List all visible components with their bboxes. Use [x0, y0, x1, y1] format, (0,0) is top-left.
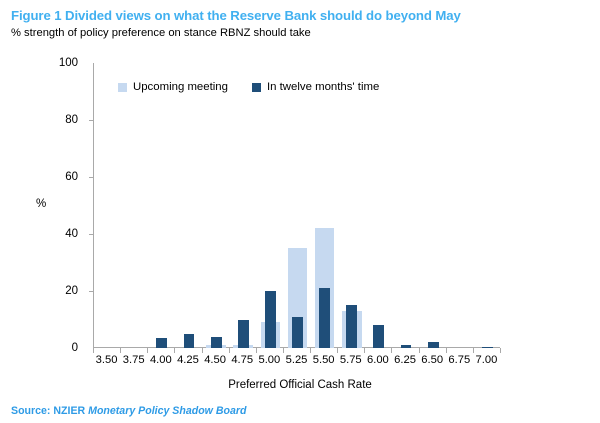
- x-tick-mark: [174, 348, 175, 353]
- x-tick-mark: [500, 348, 501, 353]
- x-tick-mark: [120, 348, 121, 353]
- x-tick-label: 5.50: [313, 354, 335, 366]
- bar-category: [175, 63, 202, 348]
- bar-category: [148, 63, 175, 348]
- x-tick-mark: [391, 348, 392, 353]
- bar-twelve-months: [319, 288, 330, 348]
- x-tick-label: 4.00: [150, 354, 172, 366]
- x-tick-label: 5.75: [340, 354, 362, 366]
- page-title: Figure 1 Divided views on what the Reser…: [11, 8, 461, 23]
- bar-twelve-months: [265, 291, 276, 348]
- bar-category: [230, 63, 257, 348]
- x-tick-mark: [473, 348, 474, 353]
- x-tick-label: 4.75: [231, 354, 253, 366]
- source-publication: Monetary Policy Shadow Board: [88, 405, 246, 417]
- y-tick-mark: [89, 177, 94, 178]
- y-tick-label: 100: [59, 57, 78, 69]
- bar-twelve-months: [292, 317, 303, 348]
- legend-entry: Upcoming meeting: [118, 81, 228, 93]
- x-tick-label: 7.00: [476, 354, 498, 366]
- legend-label: Upcoming meeting: [133, 81, 228, 93]
- bar-category: [338, 63, 365, 348]
- bar-category: [311, 63, 338, 348]
- x-tick-label: 6.75: [448, 354, 470, 366]
- x-tick-label: 3.75: [123, 354, 145, 366]
- x-tick-mark: [93, 348, 94, 353]
- bar-twelve-months: [184, 334, 195, 348]
- y-tick-label: 0: [72, 342, 78, 354]
- bar-category: [365, 63, 392, 348]
- bar-twelve-months: [211, 337, 222, 348]
- bar-category: [203, 63, 230, 348]
- bar-twelve-months: [428, 342, 439, 348]
- legend-label: In twelve months' time: [267, 81, 379, 93]
- x-tick-mark: [256, 348, 257, 353]
- bar-category: [284, 63, 311, 348]
- x-tick-label: 3.50: [96, 354, 118, 366]
- bar-twelve-months: [373, 325, 384, 348]
- x-tick-mark: [419, 348, 420, 353]
- y-tick-label: 20: [65, 285, 78, 297]
- bar-twelve-months: [156, 338, 167, 348]
- y-axis-title: %: [36, 198, 46, 210]
- legend-swatch-icon: [252, 83, 261, 92]
- x-tick-label: 4.50: [204, 354, 226, 366]
- x-tick-mark: [310, 348, 311, 353]
- bar-twelve-months: [346, 305, 357, 348]
- x-tick-mark: [283, 348, 284, 353]
- x-tick-mark: [202, 348, 203, 353]
- bar-twelve-months: [482, 347, 493, 348]
- bar-twelve-months: [401, 345, 412, 348]
- plot-area: [93, 63, 500, 348]
- y-tick-label: 40: [65, 228, 78, 240]
- y-tick-mark: [89, 234, 94, 235]
- x-tick-label: 5.25: [286, 354, 308, 366]
- bar-category: [420, 63, 447, 348]
- x-tick-mark: [337, 348, 338, 353]
- x-tick-label: 5.00: [258, 354, 280, 366]
- x-tick-mark: [446, 348, 447, 353]
- legend-entry: In twelve months' time: [252, 81, 379, 93]
- y-tick-label: 80: [65, 114, 78, 126]
- bar-category: [474, 63, 501, 348]
- y-tick-mark: [89, 120, 94, 121]
- figure-container: Figure 1 Divided views on what the Reser…: [0, 0, 600, 423]
- y-tick-label: 60: [65, 171, 78, 183]
- x-tick-mark: [364, 348, 365, 353]
- bar-category: [447, 63, 474, 348]
- legend-swatch-icon: [118, 83, 127, 92]
- bar-group: [94, 63, 501, 348]
- x-axis-tick-labels: 3.503.754.004.254.504.755.005.255.505.75…: [93, 354, 500, 372]
- chart-subtitle: % strength of policy preference on stanc…: [11, 27, 311, 39]
- x-tick-label: 4.25: [177, 354, 199, 366]
- x-tick-label: 6.50: [421, 354, 443, 366]
- bar-twelve-months: [238, 320, 249, 349]
- source-note: Source: NZIER Monetary Policy Shadow Boa…: [11, 405, 246, 417]
- bar-category: [392, 63, 419, 348]
- bar-category: [257, 63, 284, 348]
- x-tick-mark: [229, 348, 230, 353]
- x-tick-label: 6.00: [367, 354, 389, 366]
- source-prefix: Source: NZIER: [11, 405, 88, 417]
- bar-category: [121, 63, 148, 348]
- bar-category: [94, 63, 121, 348]
- x-tick-label: 6.25: [394, 354, 416, 366]
- chart-legend: Upcoming meetingIn twelve months' time: [118, 81, 379, 93]
- x-axis-title: Preferred Official Cash Rate: [0, 379, 600, 391]
- x-tick-mark: [147, 348, 148, 353]
- y-tick-mark: [89, 291, 94, 292]
